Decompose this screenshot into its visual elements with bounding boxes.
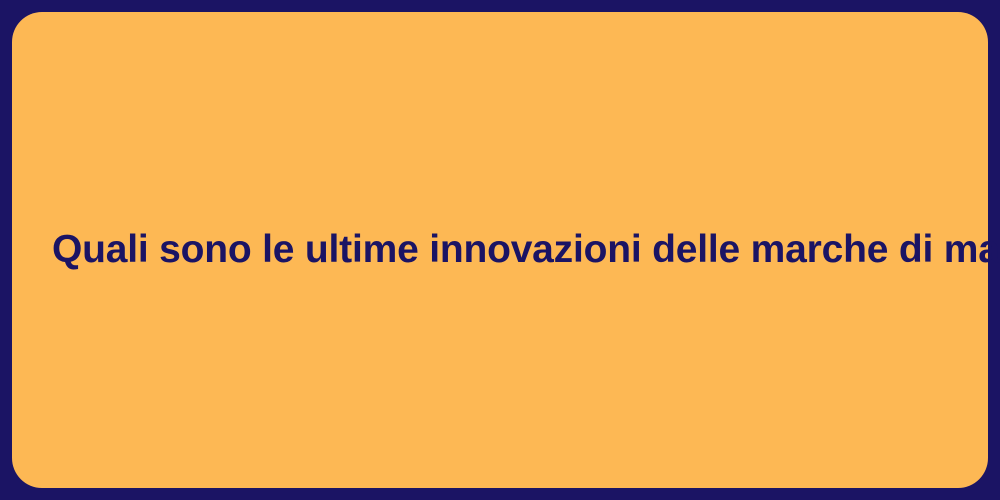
question-card-panel: Quali sono le ultime innovazioni delle m… bbox=[12, 12, 988, 488]
question-card-frame: Quali sono le ultime innovazioni delle m… bbox=[0, 0, 1000, 500]
question-headline: Quali sono le ultime innovazioni delle m… bbox=[52, 227, 948, 274]
